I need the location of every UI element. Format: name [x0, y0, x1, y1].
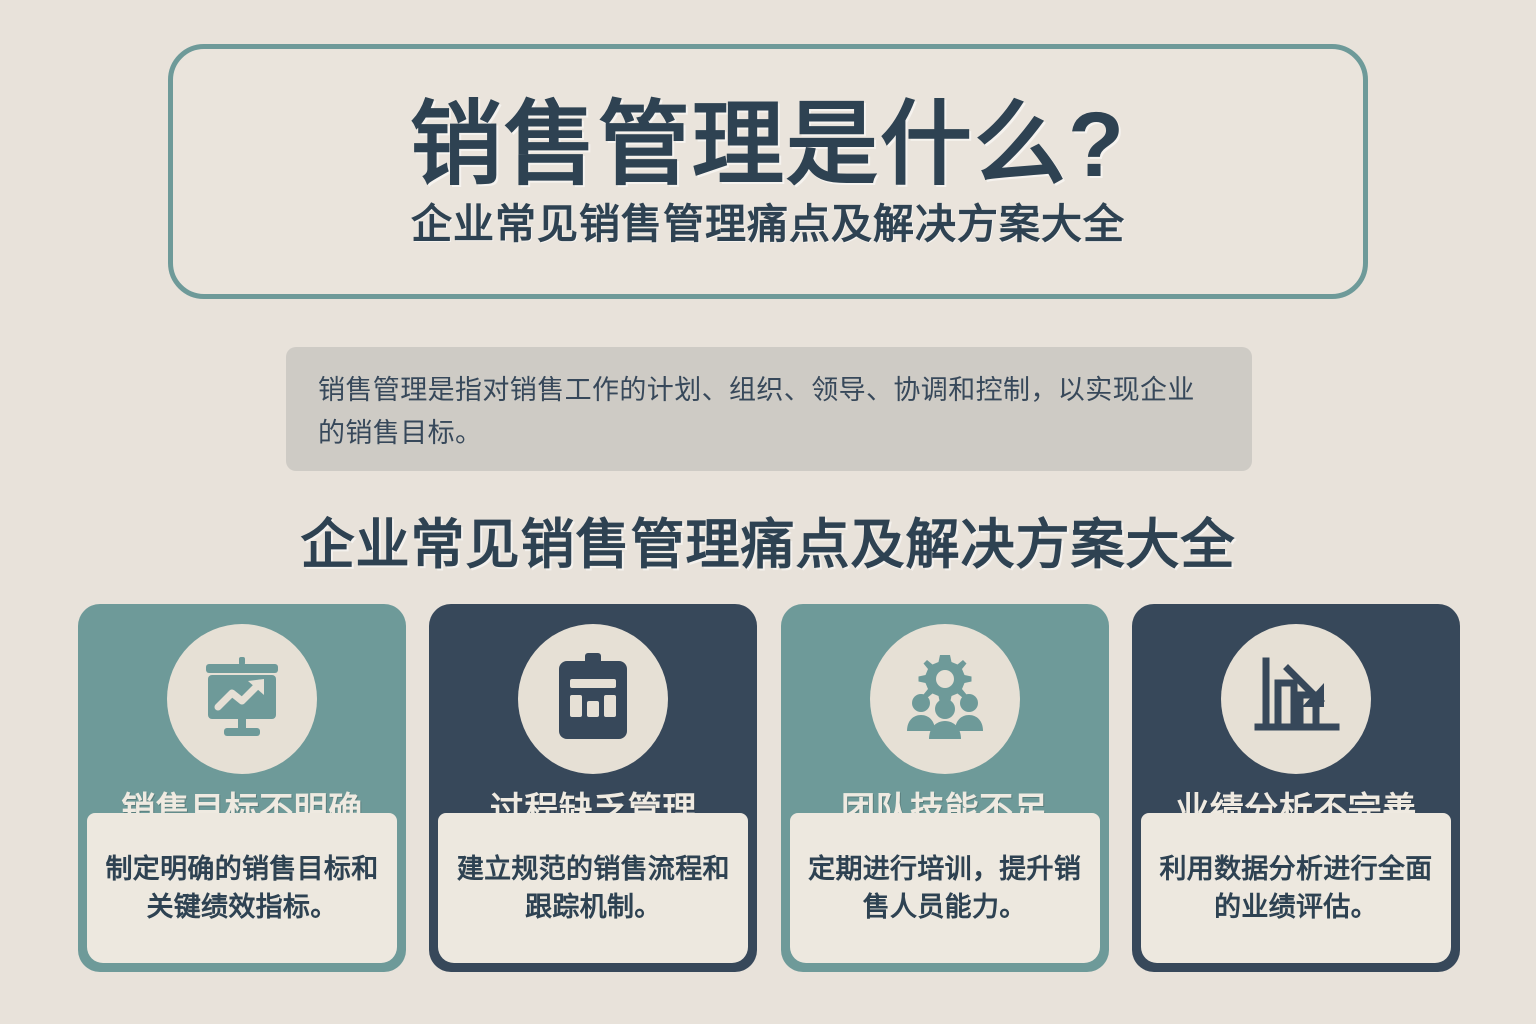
card-body: 利用数据分析进行全面的业绩评估。 — [1141, 813, 1451, 963]
section-heading: 企业常见销售管理痛点及解决方案大全 — [0, 500, 1536, 579]
clipboard-bar-chart-icon — [545, 649, 641, 750]
card-team-skills[interactable]: 团队技能不足 定期进行培训，提升销售人员能力。 — [781, 604, 1109, 972]
card-body-text: 建立规范的销售流程和跟踪机制。 — [454, 850, 732, 927]
card-body: 定期进行培训，提升销售人员能力。 — [790, 813, 1100, 963]
card-body-text: 利用数据分析进行全面的业绩评估。 — [1157, 850, 1435, 927]
card-body-text: 定期进行培训，提升销售人员能力。 — [806, 850, 1084, 927]
title-banner: 销售管理是什么? 企业常见销售管理痛点及解决方案大全 — [168, 44, 1368, 299]
card-icon-circle — [518, 624, 668, 774]
card-body: 建立规范的销售流程和跟踪机制。 — [438, 813, 748, 963]
card-body-text: 制定明确的销售目标和关键绩效指标。 — [103, 850, 381, 927]
card-icon-circle — [870, 624, 1020, 774]
description-panel: 销售管理是指对销售工作的计划、组织、领导、协调和控制，以实现企业的销售目标。 — [286, 347, 1252, 471]
presentation-chart-icon — [194, 649, 290, 750]
description-text: 销售管理是指对销售工作的计划、组织、领导、协调和控制，以实现企业的销售目标。 — [318, 369, 1222, 454]
card-icon-circle — [1221, 624, 1371, 774]
card-process-management[interactable]: 过程缺乏管理 建立规范的销售流程和跟踪机制。 — [429, 604, 757, 972]
page-title: 销售管理是什么? — [410, 96, 1126, 195]
card-body: 制定明确的销售目标和关键绩效指标。 — [87, 813, 397, 963]
card-icon-circle — [167, 624, 317, 774]
page-subtitle: 企业常见销售管理痛点及解决方案大全 — [411, 202, 1125, 247]
card-performance-analysis[interactable]: 业绩分析不完善 利用数据分析进行全面的业绩评估。 — [1132, 604, 1460, 972]
team-gear-icon — [897, 649, 993, 750]
card-sales-target[interactable]: 销售目标不明确 制定明确的销售目标和关键绩效指标。 — [78, 604, 406, 972]
declining-bar-chart-icon — [1248, 649, 1344, 750]
pain-point-cards: 销售目标不明确 制定明确的销售目标和关键绩效指标。 — [78, 604, 1460, 972]
